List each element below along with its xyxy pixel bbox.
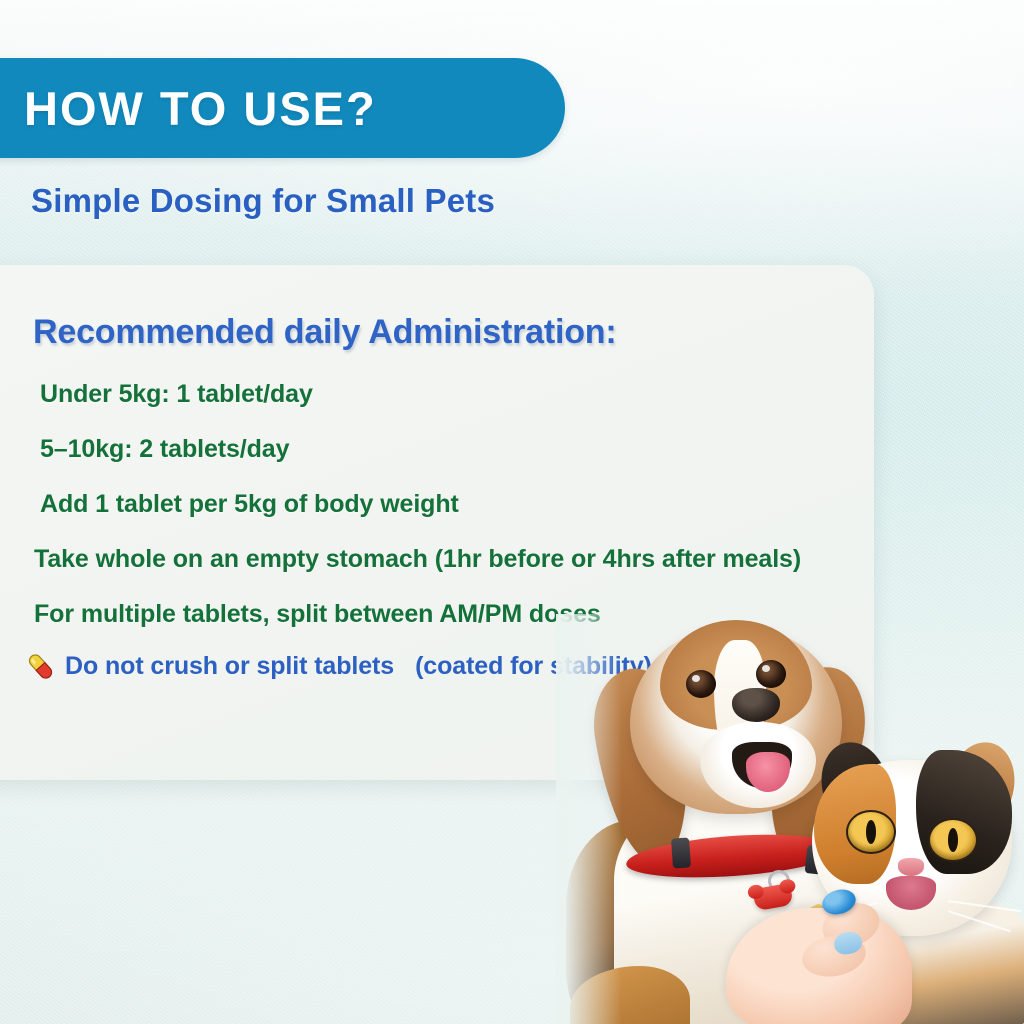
poster-canvas: HOW TO USE? Simple Dosing for Small Pets…: [0, 0, 1024, 1024]
cat-eye-left: [846, 810, 896, 854]
card-heading: Recommended daily Administration:: [33, 313, 854, 352]
subtitle: Simple Dosing for Small Pets: [31, 182, 495, 220]
warning-note-text: Do not crush or split tablets: [65, 652, 394, 681]
collar-buckle: [671, 837, 691, 868]
dog-eye-left: [686, 670, 716, 698]
cat-nose: [898, 858, 924, 876]
pets-photo: [556, 614, 1024, 1024]
dose-line-1: Under 5kg: 1 tablet/day: [40, 380, 854, 409]
cat-eye-right: [928, 818, 978, 862]
capsule-pill-icon: [25, 651, 56, 682]
dog-eye-right: [756, 660, 786, 688]
dose-line-4: Take whole on an empty stomach (1hr befo…: [34, 545, 854, 574]
dose-line-3: Add 1 tablet per 5kg of body weight: [40, 490, 854, 519]
dose-line-2: 5–10kg: 2 tablets/day: [40, 435, 854, 464]
header-banner: HOW TO USE?: [0, 58, 565, 158]
page-title: HOW TO USE?: [24, 85, 377, 132]
